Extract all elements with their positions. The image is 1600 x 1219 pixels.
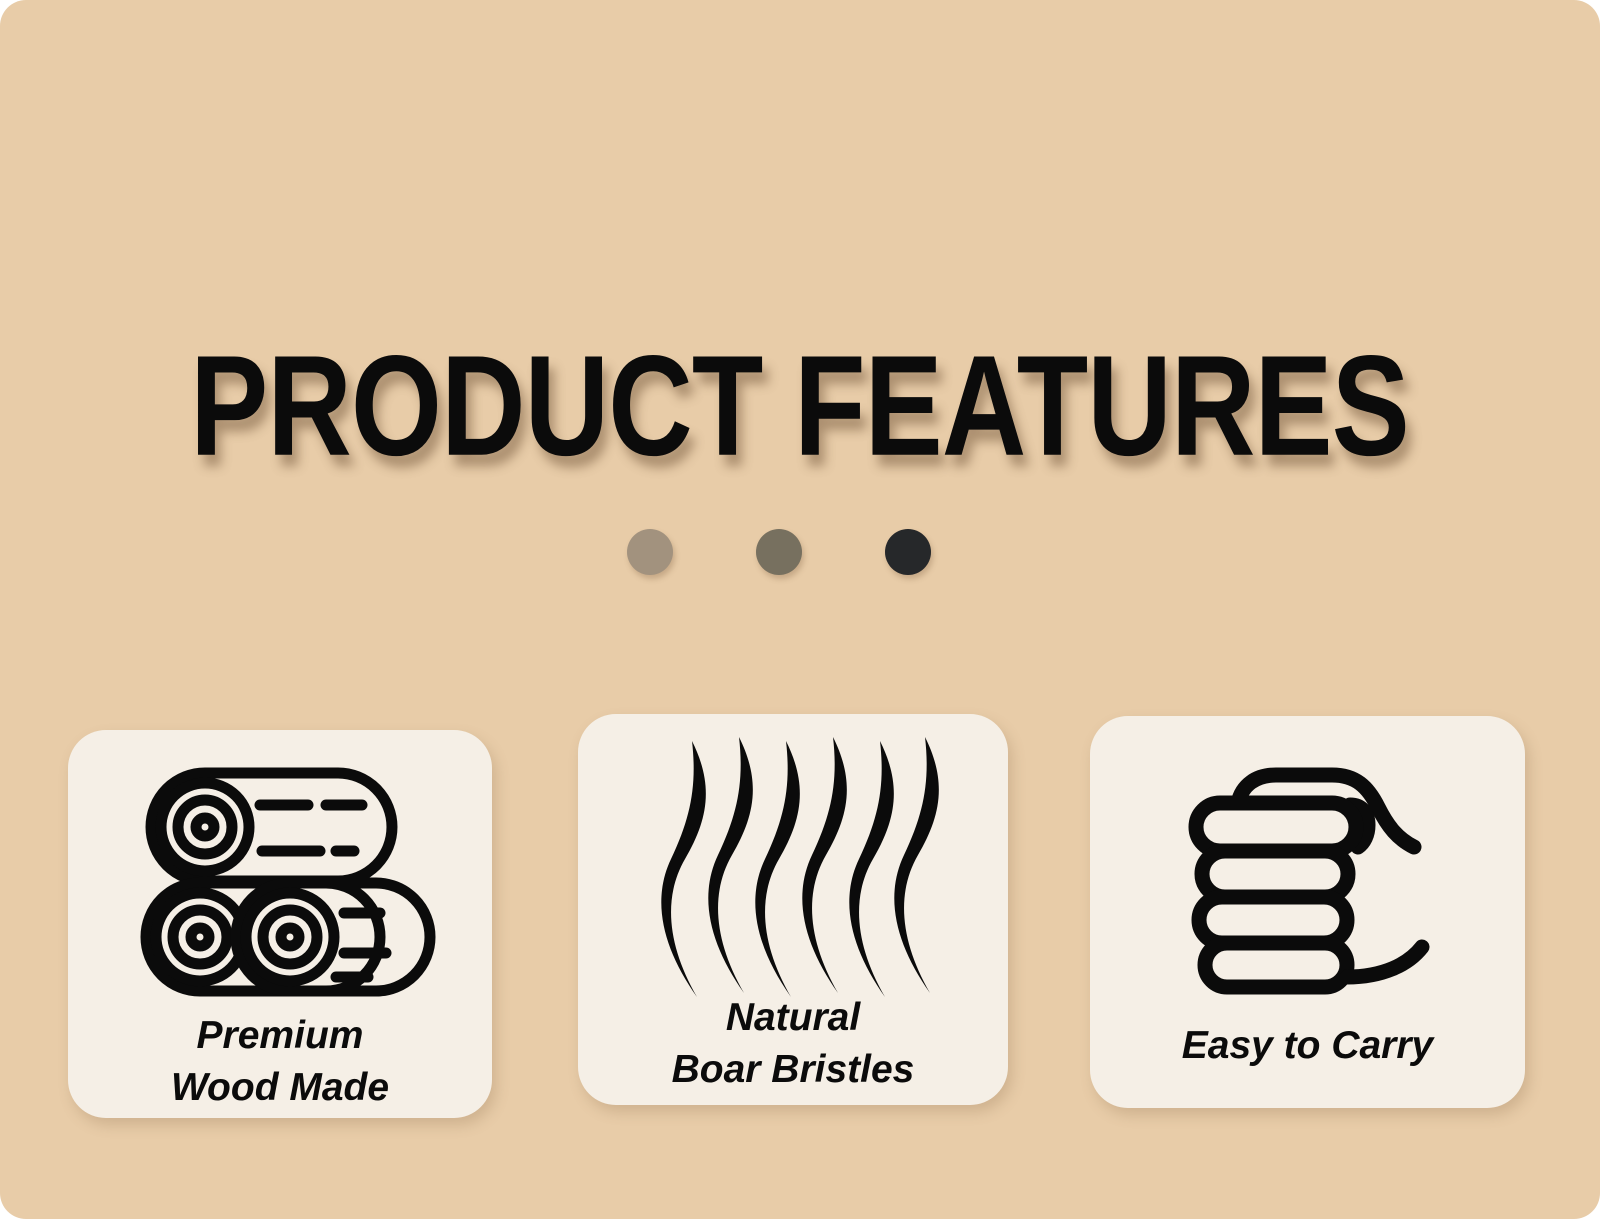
feature-card-premium-wood-made[interactable]: Premium Wood Made bbox=[68, 730, 492, 1118]
label-line-2: Boar Bristles bbox=[578, 1044, 1008, 1096]
label-line-1: Natural bbox=[578, 992, 1008, 1044]
feature-card-label: Natural Boar Bristles bbox=[578, 992, 1008, 1096]
gripping-hand-icon bbox=[1090, 716, 1525, 1008]
label-line-2: Wood Made bbox=[68, 1062, 492, 1114]
feature-card-row: Premium Wood Made Natural Boar Bristl bbox=[0, 0, 1600, 1219]
product-features-slide: PRODUCT FEATURES bbox=[0, 0, 1600, 1219]
feature-card-easy-to-carry[interactable]: Easy to Carry bbox=[1090, 716, 1525, 1108]
label-line-1: Easy to Carry bbox=[1090, 1020, 1525, 1072]
feature-card-label: Easy to Carry bbox=[1090, 1020, 1525, 1072]
feature-card-natural-boar-bristles[interactable]: Natural Boar Bristles bbox=[578, 714, 1008, 1105]
feature-card-label: Premium Wood Made bbox=[68, 1010, 492, 1114]
wavy-bristles-icon bbox=[578, 714, 1008, 1014]
stacked-wood-logs-icon bbox=[68, 730, 492, 1016]
label-line-1: Premium bbox=[68, 1010, 492, 1062]
